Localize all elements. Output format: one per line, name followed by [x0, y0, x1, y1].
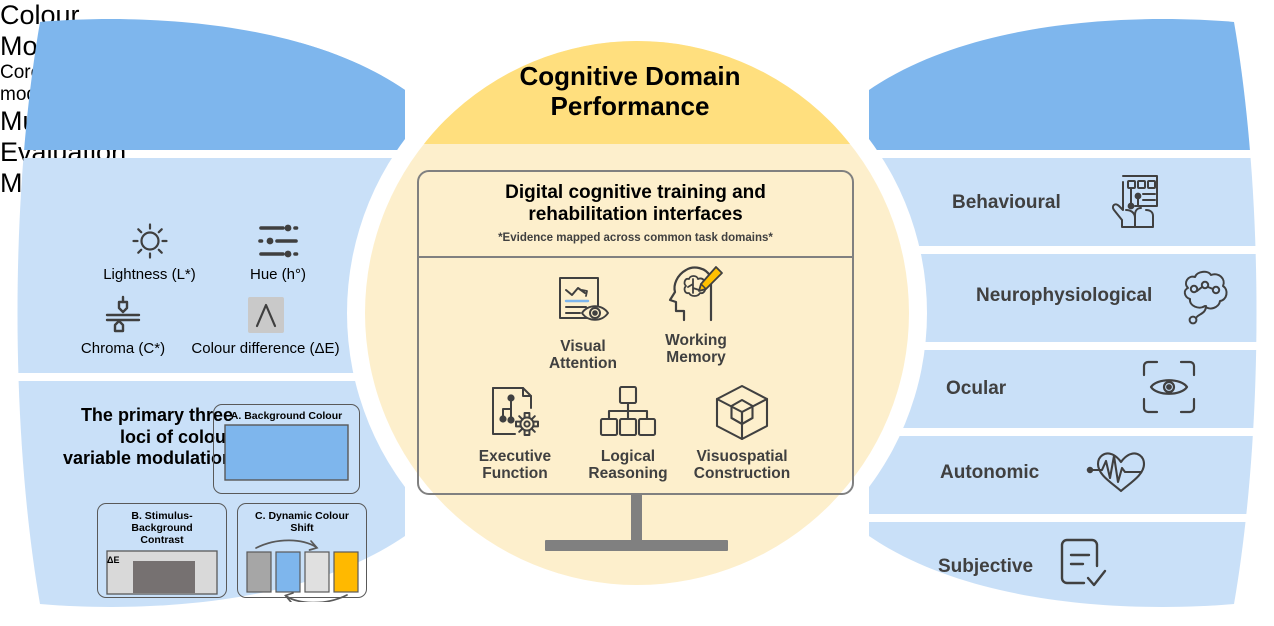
domain-executive-function-label: Executive Function	[456, 448, 574, 483]
modality-ocular-label: Ocular	[946, 378, 1006, 400]
eye-scan-icon	[1140, 358, 1198, 421]
loci-heading-line1: The primary three	[48, 405, 233, 427]
center-title: Cognitive Domain Performance	[455, 62, 805, 122]
brain-head-pencil-icon	[637, 266, 755, 328]
cube-icon	[683, 382, 801, 444]
center-title-line1: Cognitive Domain	[455, 62, 805, 92]
hierarchy-tree-icon	[569, 382, 687, 444]
checklist-document-icon	[1055, 536, 1109, 597]
modality-neurophysiological-label: Neurophysiological	[976, 285, 1152, 307]
flowchart-gear-icon	[456, 382, 574, 444]
modality-subjective-label: Subjective	[938, 556, 1033, 578]
loci-card-c-title: C. Dynamic Colour Shift	[238, 504, 366, 536]
variable-colour-difference-label: Colour difference (ΔE)	[168, 341, 363, 358]
monitor-subheading: *Evidence mapped across common task doma…	[498, 232, 773, 244]
domain-visual-attention: Visual Attention	[524, 272, 642, 373]
domain-working-memory: Working Memory	[637, 266, 755, 367]
monitor-heading: Digital cognitive training and rehabilit…	[505, 182, 766, 227]
domain-visual-attention-label: Visual Attention	[524, 338, 642, 373]
label-line2: Function	[456, 465, 574, 482]
loci-card-b-title-line1: B. Stimulus-Background	[102, 510, 222, 534]
loci-heading-line2: loci of colour	[48, 427, 233, 449]
domain-logical-reasoning: Logical Reasoning	[569, 382, 687, 483]
variable-colour-difference: Colour difference (ΔE)	[168, 292, 363, 358]
contrast-swatch	[106, 550, 218, 595]
monitor-heading-line1: Digital cognitive training and	[505, 182, 766, 204]
loci-card-dynamic-shift: C. Dynamic Colour Shift	[237, 503, 367, 598]
chart-eye-icon	[524, 272, 642, 334]
loci-heading: The primary three loci of colour variabl…	[48, 405, 233, 470]
domain-visuospatial-construction: Visuospatial Construction	[683, 382, 801, 483]
modality-behavioural-label: Behavioural	[952, 192, 1061, 214]
label-line2: Memory	[637, 349, 755, 366]
dynamic-shift-swatches	[243, 536, 361, 602]
variable-hue-label: Hue (h°)	[198, 267, 358, 284]
domain-working-memory-label: Working Memory	[637, 332, 755, 367]
background-colour-swatch	[224, 424, 349, 481]
monitor-heading-line2: rehabilitation interfaces	[505, 204, 766, 226]
delta-e-badge: ΔE	[107, 555, 119, 565]
loci-card-stimulus-contrast: B. Stimulus-Background Contrast ΔE	[97, 503, 227, 598]
letter-a-swatch-icon	[168, 292, 363, 338]
label-line2: Construction	[683, 465, 801, 482]
label-line2: Attention	[524, 355, 642, 372]
loci-heading-line3: variable modulation	[48, 448, 233, 470]
label-line1: Logical	[569, 448, 687, 465]
loci-card-b-title: B. Stimulus-Background Contrast	[98, 504, 226, 548]
variable-hue: Hue (h°)	[198, 218, 358, 284]
label-line2: Reasoning	[569, 465, 687, 482]
domain-visuospatial-construction-label: Visuospatial Construction	[683, 448, 801, 483]
loci-card-background-colour: A. Background Colour	[213, 404, 360, 494]
heart-pulse-icon	[1086, 445, 1156, 502]
center-title-line2: Performance	[455, 92, 805, 122]
touchscreen-hand-icon	[1105, 172, 1165, 237]
infographic-canvas: Colour Modulation Core colour modulation…	[0, 0, 1274, 626]
domain-executive-function: Executive Function	[456, 382, 574, 483]
label-line1: Working	[637, 332, 755, 349]
label-line1: Visual	[524, 338, 642, 355]
modality-autonomic-label: Autonomic	[940, 462, 1039, 484]
label-line1: Visuospatial	[683, 448, 801, 465]
loci-card-a-title: A. Background Colour	[214, 405, 359, 424]
brain-node-icon	[1172, 266, 1234, 333]
sliders-icon	[198, 218, 358, 264]
label-line1: Executive	[456, 448, 574, 465]
domain-logical-reasoning-label: Logical Reasoning	[569, 448, 687, 483]
loci-card-b-title-line2: Contrast	[102, 534, 222, 546]
monitor-header: Digital cognitive training and rehabilit…	[417, 170, 854, 258]
